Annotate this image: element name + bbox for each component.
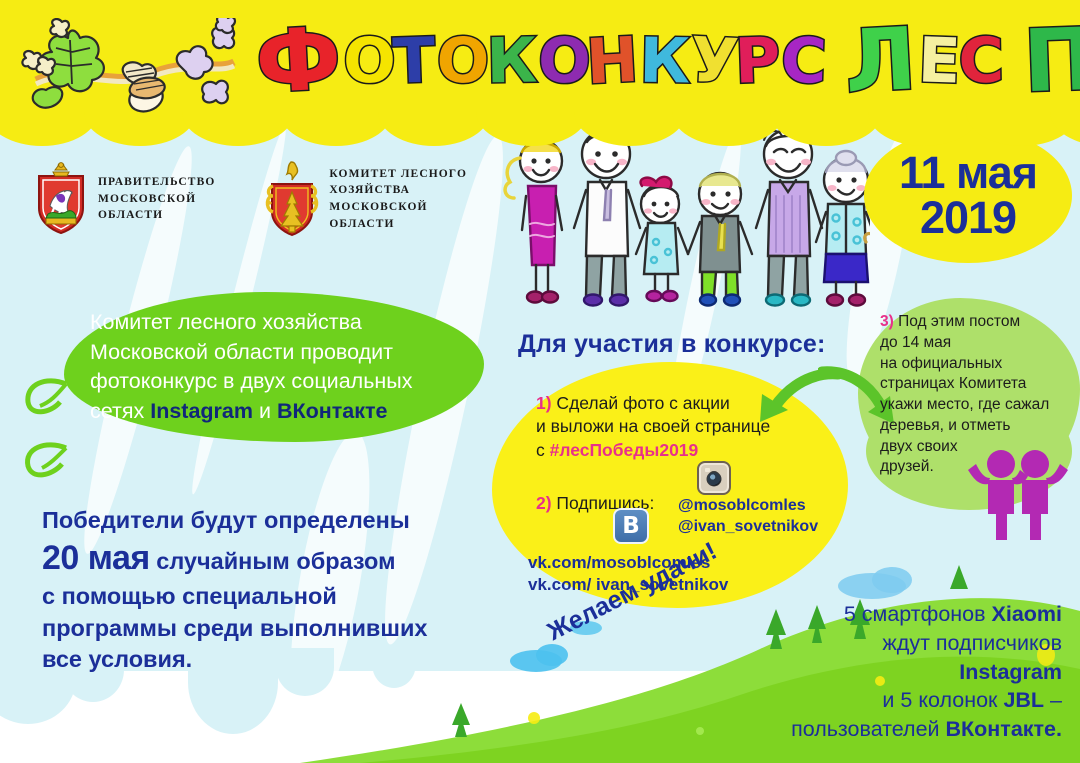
poster-title: ФОТОКОНКУРСЛЕСПОБЕДЫ (258, 18, 1080, 104)
instagram-lens (707, 471, 722, 486)
step-3-line-4: страницах Комитета (880, 374, 1078, 395)
title-letter: Р (734, 29, 781, 93)
intro-line-1: Комитет лесного хозяйства (90, 308, 482, 338)
title-letter: О (342, 29, 396, 93)
winners-line-1: Победители будут определены (42, 505, 492, 536)
title-letter: С (958, 30, 1004, 93)
date-badge: 11 мая 2019 (864, 128, 1072, 263)
intro-line-3: фотоконкурс в двух социальных (90, 367, 482, 397)
date-day: 11 мая (899, 151, 1037, 195)
logo-forestry-committee: КОМИТЕТ ЛЕСНОГО ХОЗЯЙСТВА МОСКОВСКОЙ ОБЛ… (265, 160, 467, 238)
winners-line-2: 20 мая случайным образом (42, 536, 492, 581)
logo-caption: КОМИТЕТ ЛЕСНОГО ХОЗЯЙСТВА МОСКОВСКОЙ ОБЛ… (329, 166, 467, 233)
oak-branch-icon (18, 18, 258, 118)
title-letter: Л (842, 16, 917, 106)
prize-line-4: и 5 колонок JBL – (732, 686, 1062, 715)
prizes-text: 5 смартфонов Xiaomi ждут подписчиков Ins… (732, 600, 1062, 744)
title-letter: П (1022, 17, 1080, 105)
two-friends-icon (966, 448, 1070, 544)
title-letter: О (435, 29, 490, 94)
prize-line-1: 5 смартфонов Xiaomi (732, 600, 1062, 629)
prize-line-3: Instagram (732, 658, 1062, 687)
title-letter: К (486, 30, 537, 93)
vkontakte-label: ВКонтакте (277, 399, 388, 423)
title-letter: Е (917, 29, 960, 92)
winners-date: 20 мая (42, 539, 150, 577)
title-letter: С (780, 29, 827, 93)
intro-text: Комитет лесного хозяйства Московской обл… (90, 308, 482, 427)
title-letter: К (639, 30, 690, 93)
step-3-line-5: укажи место, где сажал (880, 395, 1078, 416)
intro-line-2: Московской области проводит (90, 338, 482, 368)
winners-line-3: с помощью специальной (42, 581, 492, 612)
logo-caption: ПРАВИТЕЛЬСТВО МОСКОВСКОЙ ОБЛАСТИ (98, 174, 215, 224)
poster-root: Комитет лесного хозяйства Московской обл… (0, 0, 1080, 763)
title-letter: Т (392, 29, 435, 92)
instagram-icon[interactable] (697, 461, 731, 495)
family-illustration (492, 124, 870, 316)
forestry-emblem-icon (265, 160, 319, 238)
title-letter: О (537, 29, 591, 93)
logos-row: ПРАВИТЕЛЬСТВО МОСКОВСКОЙ ОБЛАСТИ КОМИТЕТ… (34, 160, 467, 238)
instagram-label: Instagram (150, 399, 253, 423)
step-3-line-6: деревья, и отметь (880, 416, 1078, 437)
coat-of-arms-icon (34, 162, 88, 236)
social-handles: @mosoblcomles @ivan_sovetnikov (678, 495, 818, 537)
title-letter: У (689, 29, 739, 93)
intro-line-4: сетях Instagram и ВКонтакте (90, 397, 482, 427)
title-letter: Н (585, 29, 639, 94)
leaf-icon (10, 368, 72, 488)
date-year: 2019 (920, 195, 1016, 240)
step-3-line-3: на официальных (880, 354, 1078, 375)
hashtag: #лесПобеды2019 (550, 440, 699, 460)
logo-moscow-region-government: ПРАВИТЕЛЬСТВО МОСКОВСКОЙ ОБЛАСТИ (34, 160, 215, 238)
prize-line-5: пользователей ВКонтакте. (732, 715, 1062, 744)
vk-icon[interactable]: В (613, 508, 649, 544)
winners-line-5: все условия. (42, 644, 492, 675)
step-3-line-1: 3) Под этим постом (880, 312, 1078, 333)
handle-vk[interactable]: @ivan_sovetnikov (678, 516, 818, 537)
step-3-line-2: до 14 мая (880, 333, 1078, 354)
handle-instagram[interactable]: @mosoblcomles (678, 495, 818, 516)
winners-text: Победители будут определены 20 мая случа… (42, 505, 492, 675)
title-letter: Ф (254, 16, 343, 106)
participation-heading: Для участия в конкурсе: (518, 330, 826, 359)
winners-line-4: программы среди выполнивших (42, 613, 492, 644)
prize-line-2: ждут подписчиков (732, 629, 1062, 658)
step-1-line-3: с #лесПобеды2019 (536, 439, 866, 462)
